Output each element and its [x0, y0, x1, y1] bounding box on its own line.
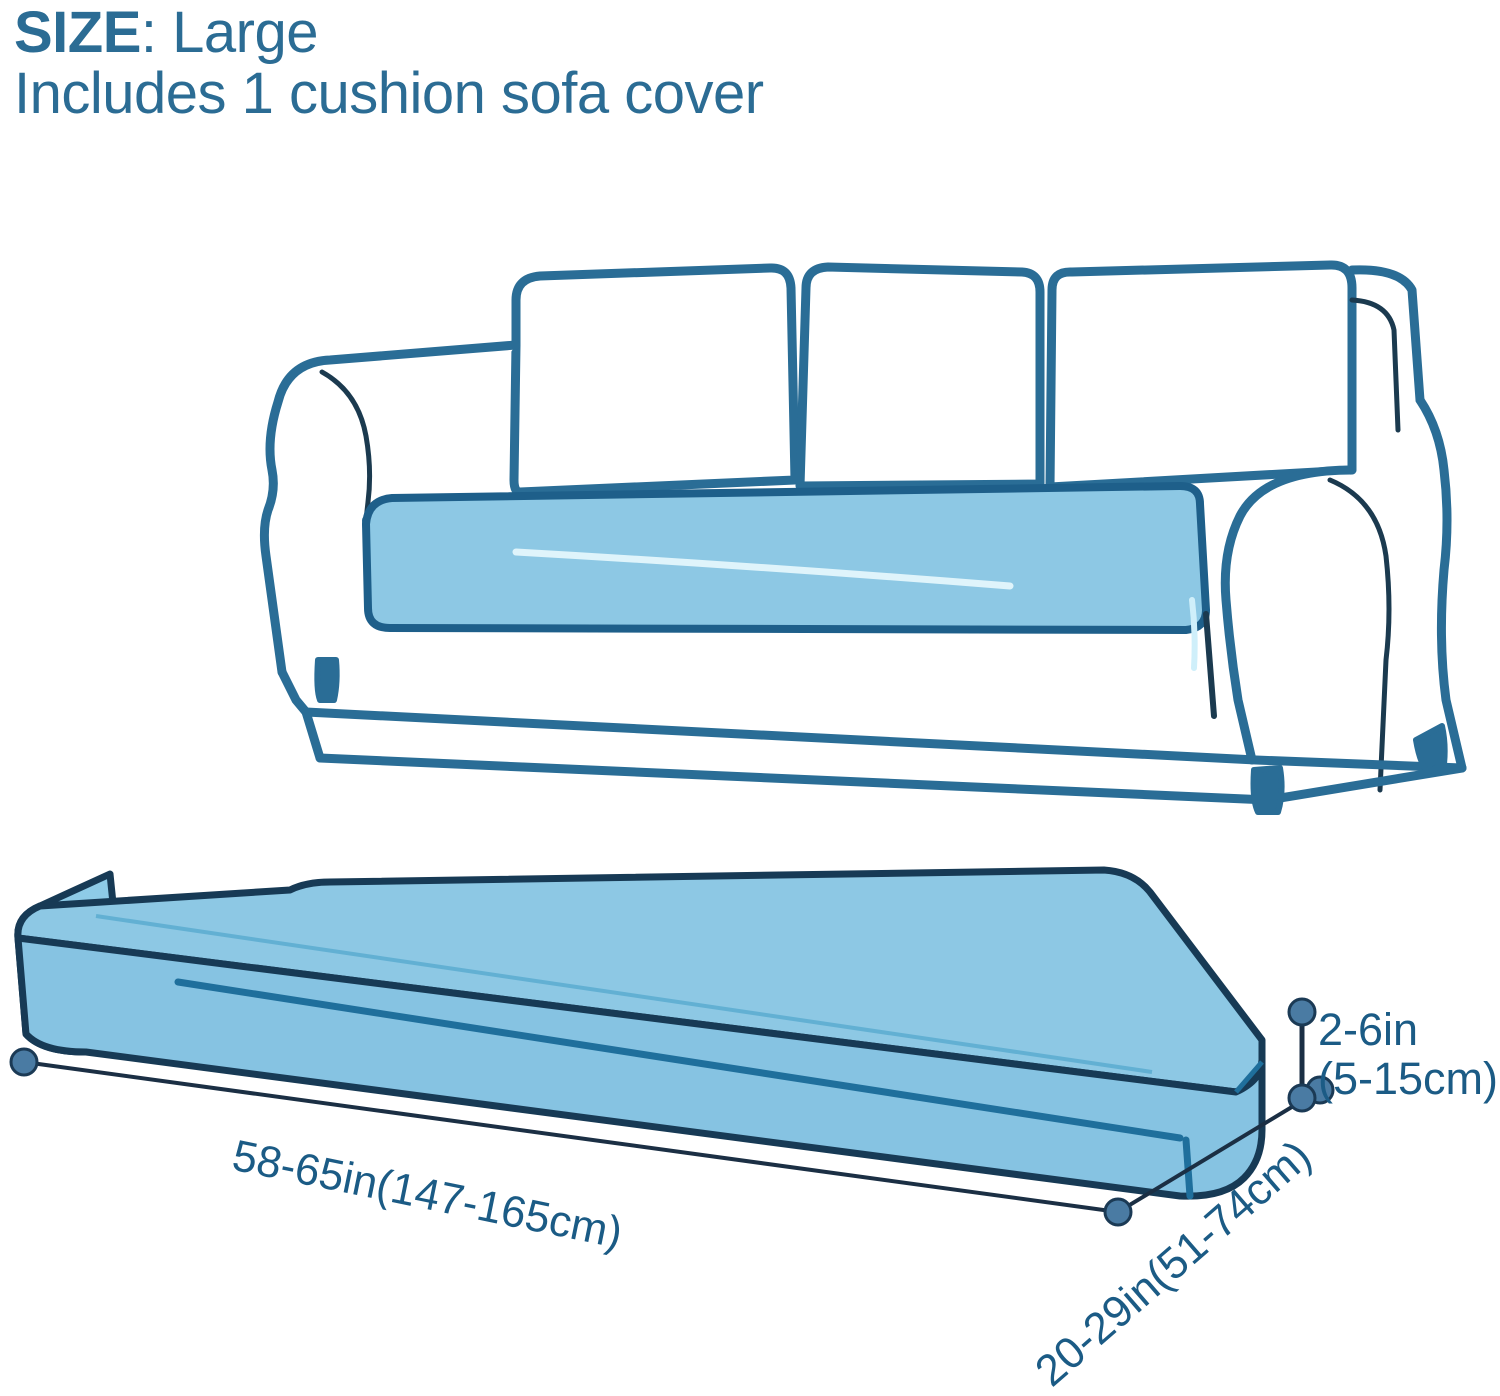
height-dimension-cm: (5-15cm): [1318, 1055, 1498, 1104]
height-dimension-dot-bottom: [1289, 1085, 1315, 1111]
width-dimension-line: [24, 1062, 1118, 1212]
height-dimension-inches: 2-6in: [1318, 1006, 1498, 1055]
product-size-diagram: SIZE: Large Includes 1 cushion sofa cove…: [0, 0, 1500, 1393]
height-dimension-label: 2-6in (5-15cm): [1318, 1006, 1498, 1103]
depth-dimension-dot-corner: [1105, 1199, 1131, 1225]
width-dimension-dot-left: [11, 1049, 37, 1075]
height-dimension-dot-top: [1289, 999, 1315, 1025]
